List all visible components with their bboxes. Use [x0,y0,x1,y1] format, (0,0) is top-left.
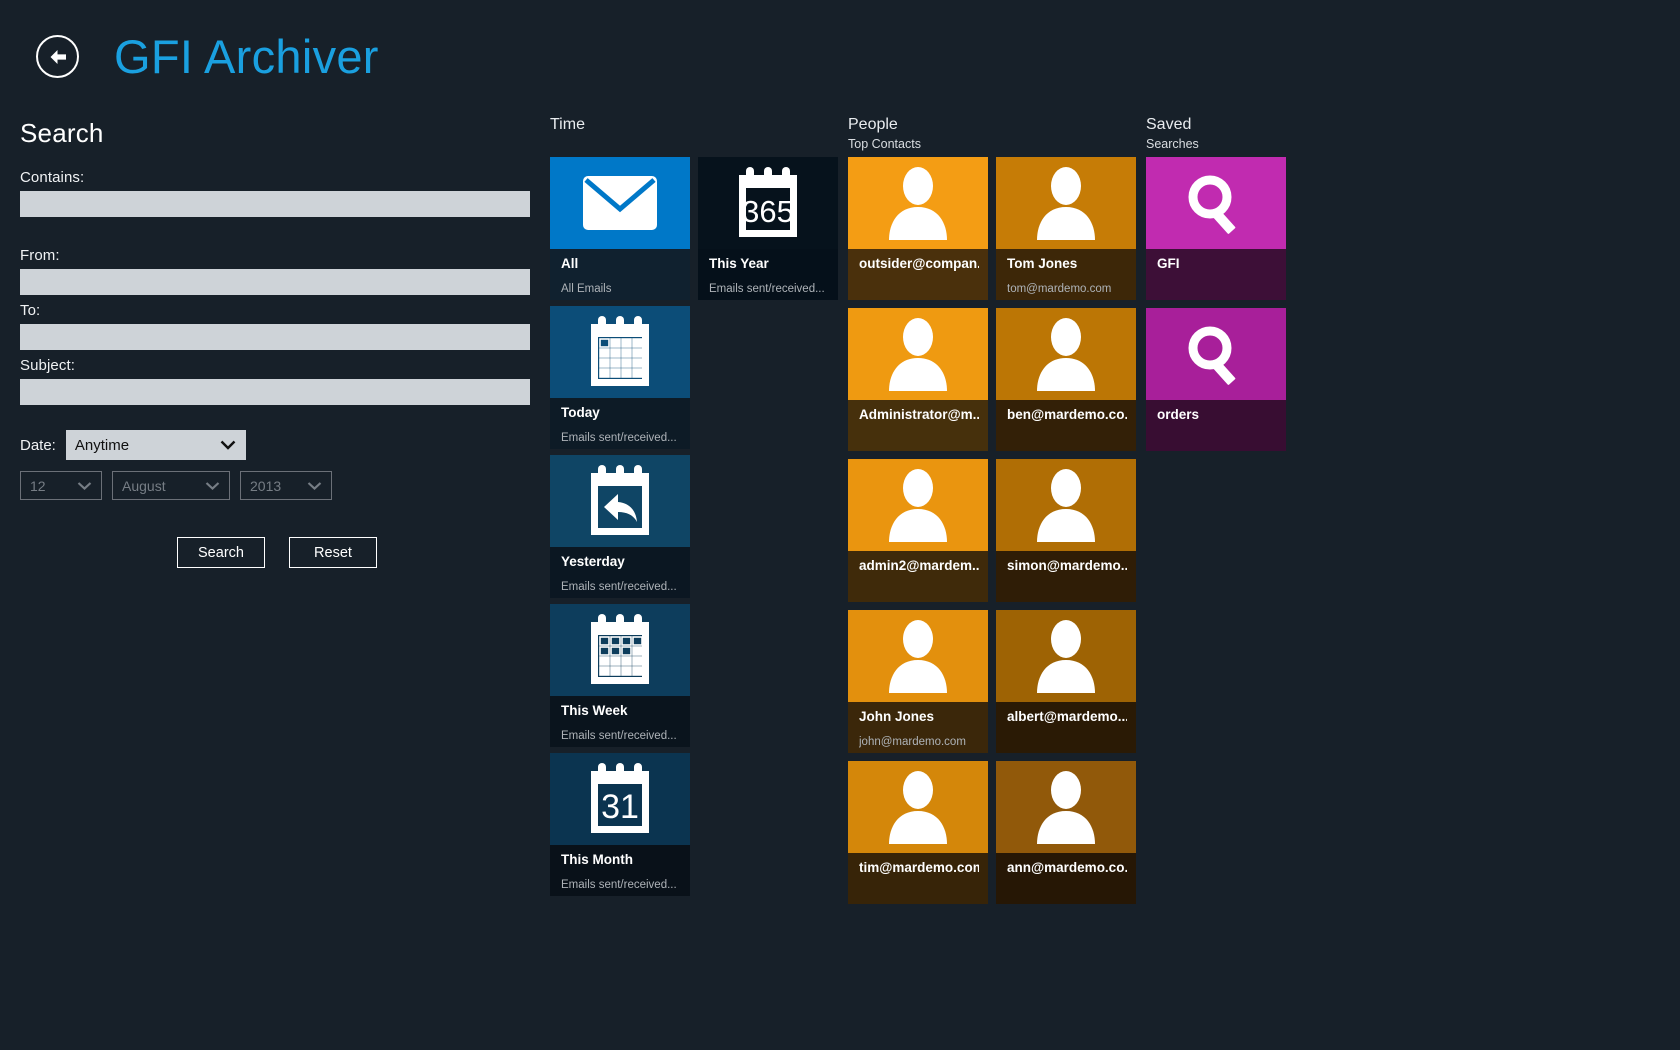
chevron-down-icon [205,481,220,490]
search-panel: Search Contains: From: To: Subject: Date… [20,118,540,568]
saved-searches-column: Saved Searches GFI orders [1146,115,1294,459]
tile-caption: AllAll Emails [550,249,690,300]
svg-text:31: 31 [601,788,639,826]
person-icon [848,610,988,702]
from-input[interactable] [20,269,530,295]
saved-tile-grid: GFI orders [1146,157,1294,459]
search-button[interactable]: Search [177,537,265,568]
people-column-title: People [848,115,1144,135]
reset-button[interactable]: Reset [289,537,377,568]
calendar-31-icon: 31 [550,753,690,845]
tile-subtitle: Emails sent/received... [561,431,681,446]
time-column-header: Time [550,115,846,157]
tile-subtitle: john@mardemo.com [859,735,979,750]
tile-title: John Jones [859,708,979,726]
tile-subtitle: Emails sent/received... [561,729,681,744]
tile-subtitle: tom@mardemo.com [1007,282,1127,297]
tile-caption: Administrator@m... [848,400,988,451]
tile-time-2[interactable]: TodayEmails sent/received... [550,306,690,449]
date-range-value: Anytime [75,437,129,454]
tile-people-7[interactable]: albert@mardemo.... [996,610,1136,753]
tile-caption: admin2@mardem... [848,551,988,602]
tile-caption: albert@mardemo.... [996,702,1136,753]
month-value: August [122,478,166,494]
date-range-select[interactable]: Anytime [66,430,246,460]
tile-people-8[interactable]: tim@mardemo.com [848,761,988,904]
tile-caption: tim@mardemo.com [848,853,988,904]
tile-title: All [561,255,681,273]
tile-caption: This YearEmails sent/received... [698,249,838,300]
tile-title: Today [561,404,681,422]
tile-caption: simon@mardemo.... [996,551,1136,602]
to-input[interactable] [20,324,530,350]
app-window: GFI Archiver Search Contains: From: To: … [0,0,1680,1050]
tile-caption: TodayEmails sent/received... [550,398,690,449]
tile-subtitle: All Emails [561,282,681,297]
tile-caption: This MonthEmails sent/received... [550,845,690,896]
date-parts: 12 August 2013 [20,471,540,500]
contains-label: Contains: [20,169,540,186]
saved-column-subtitle: Searches [1146,136,1294,152]
tile-caption: Tom Jonestom@mardemo.com [996,249,1136,300]
tile-subtitle: Emails sent/received... [709,282,829,297]
back-arrow-circle-icon [47,48,69,66]
saved-column-header: Saved Searches [1146,115,1294,157]
tile-time-5[interactable]: 31 This MonthEmails sent/received... [550,753,690,896]
subject-label: Subject: [20,357,540,374]
tile-caption: YesterdayEmails sent/received... [550,547,690,598]
tile-title: GFI [1157,255,1277,273]
page-title: GFI Archiver [114,26,379,88]
calendar-365-icon: 365 [698,157,838,249]
tile-title: This Year [709,255,829,273]
form-buttons: Search Reset [177,537,540,568]
field-to: To: [20,302,540,350]
date-label: Date: [20,437,56,454]
month-select[interactable]: August [112,471,230,500]
field-from: From: [20,247,540,295]
tile-people-4[interactable]: admin2@mardem... [848,459,988,602]
tile-people-9[interactable]: ann@mardemo.co... [996,761,1136,904]
tile-caption: GFI [1146,249,1286,300]
tile-title: ben@mardemo.co... [1007,406,1127,424]
envelope-icon [550,157,690,249]
magnifier-icon [1146,308,1286,400]
tile-time-1[interactable]: 365 This YearEmails sent/received... [698,157,838,300]
calendar-back-arrow-icon [550,455,690,547]
field-contains: Contains: [20,169,540,217]
saved-column-title: Saved [1146,115,1294,135]
chevron-down-icon [77,481,92,490]
tile-title: This Month [561,851,681,869]
year-select[interactable]: 2013 [240,471,332,500]
day-value: 12 [30,478,46,494]
tile-title: Administrator@m... [859,406,979,424]
people-tile-grid: outsider@compan... Tom Jonestom@mardemo.… [848,157,1144,912]
person-icon [848,157,988,249]
time-tile-grid: AllAll Emails 365 This YearEmails sent/r… [550,157,846,1050]
time-column: Time AllAll Emails 365 This YearEmails s… [550,115,846,1050]
magnifier-icon [1146,157,1286,249]
svg-text:365: 365 [742,194,794,229]
person-icon [996,610,1136,702]
field-subject: Subject: [20,357,540,405]
tile-title: albert@mardemo.... [1007,708,1127,726]
back-button[interactable] [36,35,79,78]
tile-caption: outsider@compan... [848,249,988,300]
app-header: GFI Archiver [0,0,1680,112]
year-value: 2013 [250,478,281,494]
people-column: People Top Contacts outsider@compan... T… [848,115,1144,912]
chevron-down-icon [220,440,236,450]
tile-subtitle: Emails sent/received... [561,580,681,595]
tile-people-6[interactable]: John Jonesjohn@mardemo.com [848,610,988,753]
tile-title: ann@mardemo.co... [1007,859,1127,877]
tile-people-3[interactable]: ben@mardemo.co... [996,308,1136,451]
tile-caption: orders [1146,400,1286,451]
tile-time-0[interactable]: AllAll Emails [550,157,690,300]
tile-saved-1[interactable]: orders [1146,308,1286,451]
tile-people-5[interactable]: simon@mardemo.... [996,459,1136,602]
date-row: Date: Anytime [20,430,540,460]
people-column-subtitle: Top Contacts [848,136,1144,152]
to-label: To: [20,302,540,319]
person-icon [996,308,1136,400]
person-icon [848,761,988,853]
person-icon [996,157,1136,249]
tile-caption: ann@mardemo.co... [996,853,1136,904]
tile-time-3[interactable]: YesterdayEmails sent/received... [550,455,690,598]
tile-title: Yesterday [561,553,681,571]
person-icon [996,761,1136,853]
tile-people-1[interactable]: Tom Jonestom@mardemo.com [996,157,1136,300]
tile-caption: John Jonesjohn@mardemo.com [848,702,988,753]
time-column-title: Time [550,115,846,135]
tile-saved-0[interactable]: GFI [1146,157,1286,300]
search-heading: Search [20,118,540,149]
tile-subtitle: Emails sent/received... [561,878,681,893]
subject-input[interactable] [20,379,530,405]
person-icon [848,308,988,400]
tile-title: orders [1157,406,1277,424]
tile-title: outsider@compan... [859,255,979,273]
calendar-grid-icon [550,306,690,398]
contains-input[interactable] [20,191,530,217]
calendar-week-icon [550,604,690,696]
people-column-header: People Top Contacts [848,115,1144,157]
day-select[interactable]: 12 [20,471,102,500]
tile-title: tim@mardemo.com [859,859,979,877]
tile-title: This Week [561,702,681,720]
tile-people-0[interactable]: outsider@compan... [848,157,988,300]
tile-title: simon@mardemo.... [1007,557,1127,575]
tile-caption: This WeekEmails sent/received... [550,696,690,747]
chevron-down-icon [307,481,322,490]
tile-title: Tom Jones [1007,255,1127,273]
person-icon [996,459,1136,551]
tile-caption: ben@mardemo.co... [996,400,1136,451]
tile-time-4[interactable]: This WeekEmails sent/received... [550,604,690,747]
tile-title: admin2@mardem... [859,557,979,575]
from-label: From: [20,247,540,264]
person-icon [848,459,988,551]
tile-people-2[interactable]: Administrator@m... [848,308,988,451]
